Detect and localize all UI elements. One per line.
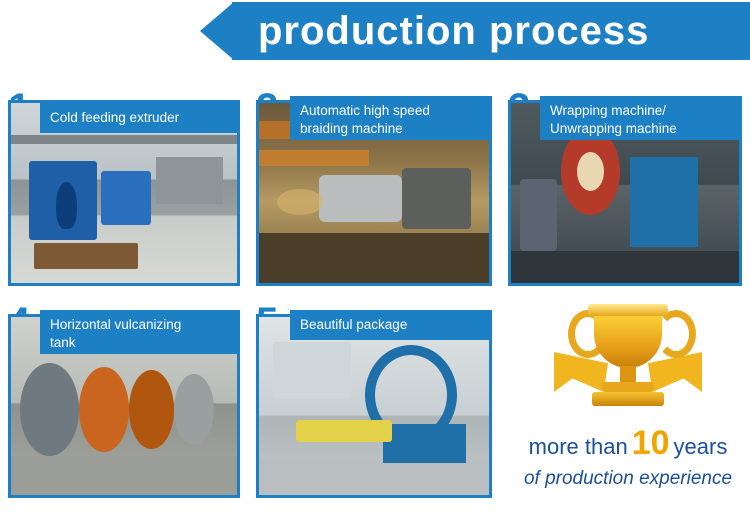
years-number: 10: [628, 424, 674, 462]
card-label-1: Cold feeding extruder: [40, 103, 240, 133]
trophy-rim: [588, 304, 668, 316]
more-than-text: more than: [529, 434, 628, 459]
trophy-base-lower: [592, 392, 664, 406]
trophy-handle-right: [656, 310, 696, 358]
card-label-4: Horizontal vulcanizing tank: [40, 310, 240, 354]
ribbon-right-shape: [648, 352, 702, 392]
header-banner: production process: [0, 0, 750, 62]
card-label-2: Automatic high speed braiding machine: [290, 96, 492, 140]
years-word: years: [674, 434, 728, 459]
card-label-5: Beautiful package: [290, 310, 492, 340]
trophy-cup: [594, 310, 662, 368]
page-title: production process: [258, 6, 649, 56]
card-label-3: Wrapping machine/ Unwrapping machine: [540, 96, 742, 140]
experience-badge: more than10years of production experienc…: [508, 296, 748, 512]
experience-caption: of production experience: [508, 468, 748, 490]
header-notch-shape: [200, 2, 234, 60]
process-card-5[interactable]: [256, 314, 492, 498]
ribbon-left-shape: [554, 352, 608, 392]
experience-years-line: more than10years: [508, 424, 748, 463]
trophy-icon: [560, 296, 696, 420]
trophy-base-upper: [602, 382, 654, 392]
photo-beautiful-package: [259, 317, 489, 495]
